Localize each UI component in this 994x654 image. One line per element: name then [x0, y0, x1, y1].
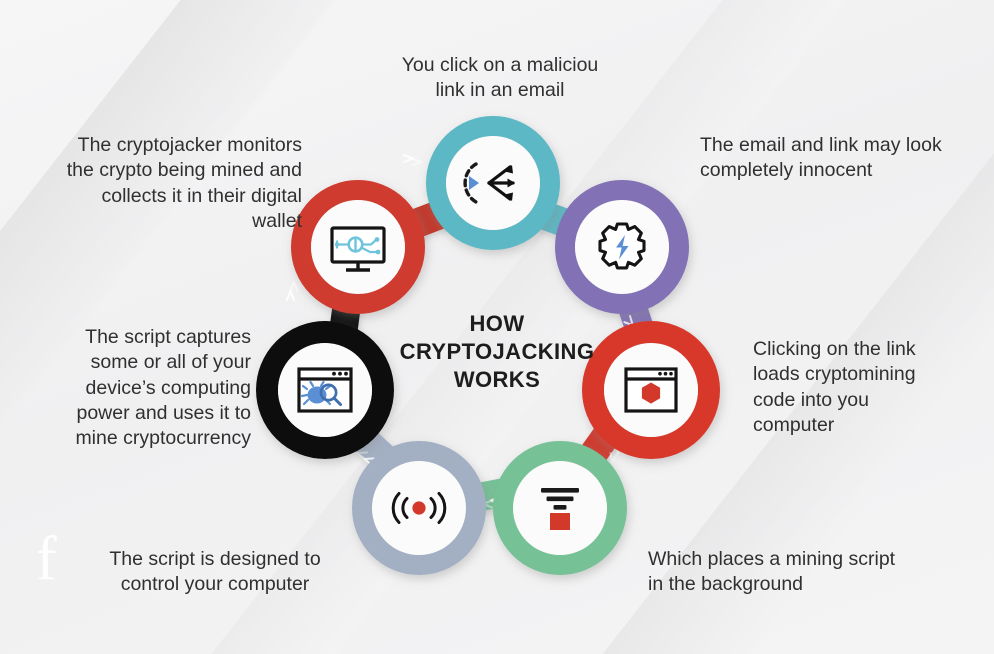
caption-line: control your computer [70, 572, 360, 597]
title-line-1: HOW [397, 310, 597, 338]
caption-step-load-cryptomining-code: Clicking on the link loads cryptomining … [753, 337, 988, 438]
caption-step-capture-computing-power: The script captures some or all of your … [26, 325, 251, 452]
caption-line: some or all of your [26, 350, 251, 375]
caption-line: power and uses it to [26, 401, 251, 426]
caption-line: You click on a maliciou [345, 53, 655, 78]
browser-hexagon-icon [626, 369, 676, 411]
browser-bug-search-icon [299, 369, 351, 411]
caption-step-control-computer: The script is designed to control your c… [70, 547, 360, 598]
cryptojacking-infographic: HOW CRYPTOJACKING WORKS You click on a m… [0, 0, 994, 654]
caption-line: in the background [648, 572, 968, 597]
title-line-2: CRYPTOJACKING [397, 338, 597, 366]
caption-line: Which places a mining script [648, 547, 968, 572]
caption-step-innocent-email: The email and link may look completely i… [700, 133, 990, 184]
caption-step-click-link: You click on a maliciou link in an email [345, 53, 655, 104]
caption-step-monitor-and-collect: The cryptojacker monitors the crypto bei… [12, 133, 302, 234]
caption-step-mining-script-background: Which places a mining script in the back… [648, 547, 968, 598]
caption-line: mine cryptocurrency [26, 426, 251, 451]
caption-line: code into you [753, 388, 988, 413]
caption-line: The script captures [26, 325, 251, 350]
title-line-3: WORKS [397, 366, 597, 394]
caption-line: computer [753, 413, 988, 438]
caption-line: Clicking on the link [753, 337, 988, 362]
caption-line: collects it in their digital [12, 184, 302, 209]
caption-line: loads cryptomining [753, 362, 988, 387]
caption-line: The cryptojacker monitors [12, 133, 302, 158]
caption-line: device’s computing [26, 376, 251, 401]
caption-line: completely innocent [700, 158, 990, 183]
decorative-f-glyph: f [36, 528, 57, 590]
caption-line: wallet [12, 209, 302, 234]
caption-line: The email and link may look [700, 133, 990, 158]
center-title: HOW CRYPTOJACKING WORKS [397, 310, 597, 394]
caption-line: The script is designed to [70, 547, 360, 572]
caption-line: the crypto being mined and [12, 158, 302, 183]
caption-line: link in an email [345, 78, 655, 103]
gear-bolt-icon [600, 224, 644, 268]
